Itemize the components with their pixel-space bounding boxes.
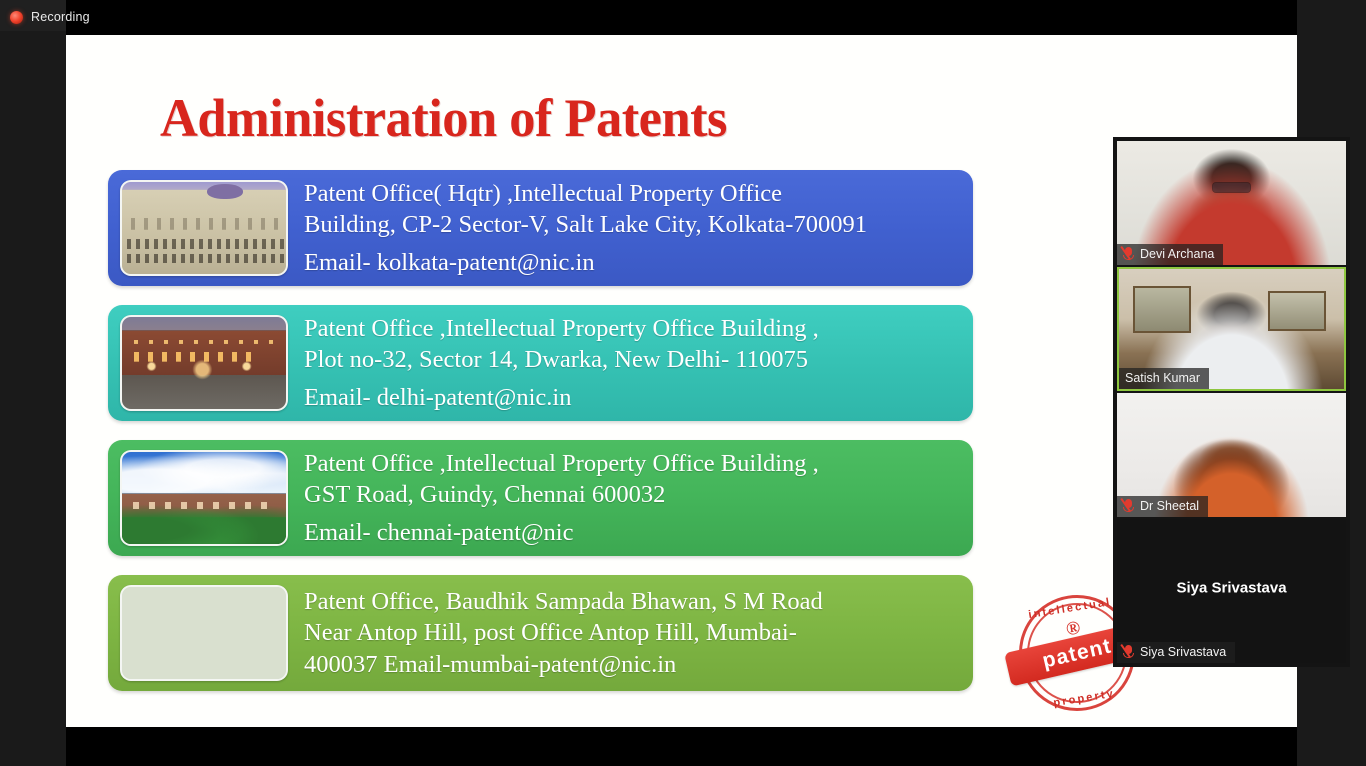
address-text-mumbai: Patent Office, Baudhik Sampada Bhawan, S… — [288, 582, 973, 683]
address-line-1: Patent Office ,Intellectual Property Off… — [304, 313, 959, 344]
chennai-building-photo — [122, 452, 286, 544]
email-line: Email- chennai-patent@nic — [304, 517, 959, 548]
address-line-2: GST Road, Guindy, Chennai 600032 — [304, 479, 959, 510]
video-tile-satish-kumar[interactable]: Satish Kumar — [1117, 267, 1346, 391]
address-card-chennai: Patent Office ,Intellectual Property Off… — [108, 440, 973, 556]
left-chrome-strip — [0, 0, 66, 766]
video-participant-panel: Devi Archana Satish Kumar Dr Sheetal Siy… — [1113, 137, 1350, 667]
email-line: Email- kolkata-patent@nic.in — [304, 247, 959, 278]
participant-name-tag: Devi Archana — [1117, 244, 1223, 265]
address-line-3: 400037 Email-mumbai-patent@nic.in — [304, 649, 959, 680]
participant-name-tag: Siya Srivastava — [1117, 642, 1235, 663]
participant-name: Devi Archana — [1140, 247, 1214, 261]
address-card-kolkata: Patent Office( Hqtr) ,Intellectual Prope… — [108, 170, 973, 286]
video-tile-siya-srivastava[interactable]: Siya Srivastava Siya Srivastava — [1117, 519, 1346, 663]
thumbnail-chennai — [120, 450, 288, 546]
thumbnail-delhi — [120, 315, 288, 411]
recording-indicator[interactable]: Recording — [10, 8, 90, 26]
address-line-1: Patent Office ,Intellectual Property Off… — [304, 448, 959, 479]
address-text-delhi: Patent Office ,Intellectual Property Off… — [288, 309, 973, 417]
bottom-black-strip — [66, 727, 1297, 766]
record-dot-icon — [10, 11, 23, 24]
address-line-1: Patent Office, Baudhik Sampada Bhawan, S… — [304, 586, 959, 617]
participant-name: Siya Srivastava — [1140, 645, 1226, 659]
address-line-2: Building, CP-2 Sector-V, Salt Lake City,… — [304, 209, 959, 240]
empty-image-placeholder — [122, 587, 286, 679]
kolkata-building-photo — [122, 182, 286, 274]
participant-name: Satish Kumar — [1125, 371, 1200, 385]
delhi-building-photo — [122, 317, 286, 409]
microphone-muted-icon — [1123, 499, 1134, 513]
camera-off-display-name: Siya Srivastava — [1117, 580, 1346, 597]
email-line: Email- delhi-patent@nic.in — [304, 382, 959, 413]
microphone-muted-icon — [1123, 247, 1134, 261]
address-line-2: Plot no-32, Sector 14, Dwarka, New Delhi… — [304, 344, 959, 375]
microphone-muted-icon — [1123, 645, 1134, 659]
thumbnail-mumbai — [120, 585, 288, 681]
address-text-chennai: Patent Office ,Intellectual Property Off… — [288, 444, 973, 552]
participant-name-tag: Dr Sheetal — [1117, 496, 1208, 517]
recording-label: Recording — [31, 10, 90, 24]
top-bar — [0, 0, 1366, 35]
address-card-delhi: Patent Office ,Intellectual Property Off… — [108, 305, 973, 421]
thumbnail-kolkata — [120, 180, 288, 276]
video-tile-dr-sheetal[interactable]: Dr Sheetal — [1117, 393, 1346, 517]
address-card-mumbai: Patent Office, Baudhik Sampada Bhawan, S… — [108, 575, 973, 691]
participant-name-tag: Satish Kumar — [1119, 368, 1209, 389]
address-line-1: Patent Office( Hqtr) ,Intellectual Prope… — [304, 178, 959, 209]
address-text-kolkata: Patent Office( Hqtr) ,Intellectual Prope… — [288, 174, 973, 282]
address-line-2: Near Antop Hill, post Office Antop Hill,… — [304, 617, 959, 648]
page-title: Administration of Patents — [160, 91, 727, 145]
participant-name: Dr Sheetal — [1140, 499, 1199, 513]
video-tile-devi-archana[interactable]: Devi Archana — [1117, 141, 1346, 265]
screen-root: Recording Administration of Patents Pate… — [0, 0, 1366, 766]
